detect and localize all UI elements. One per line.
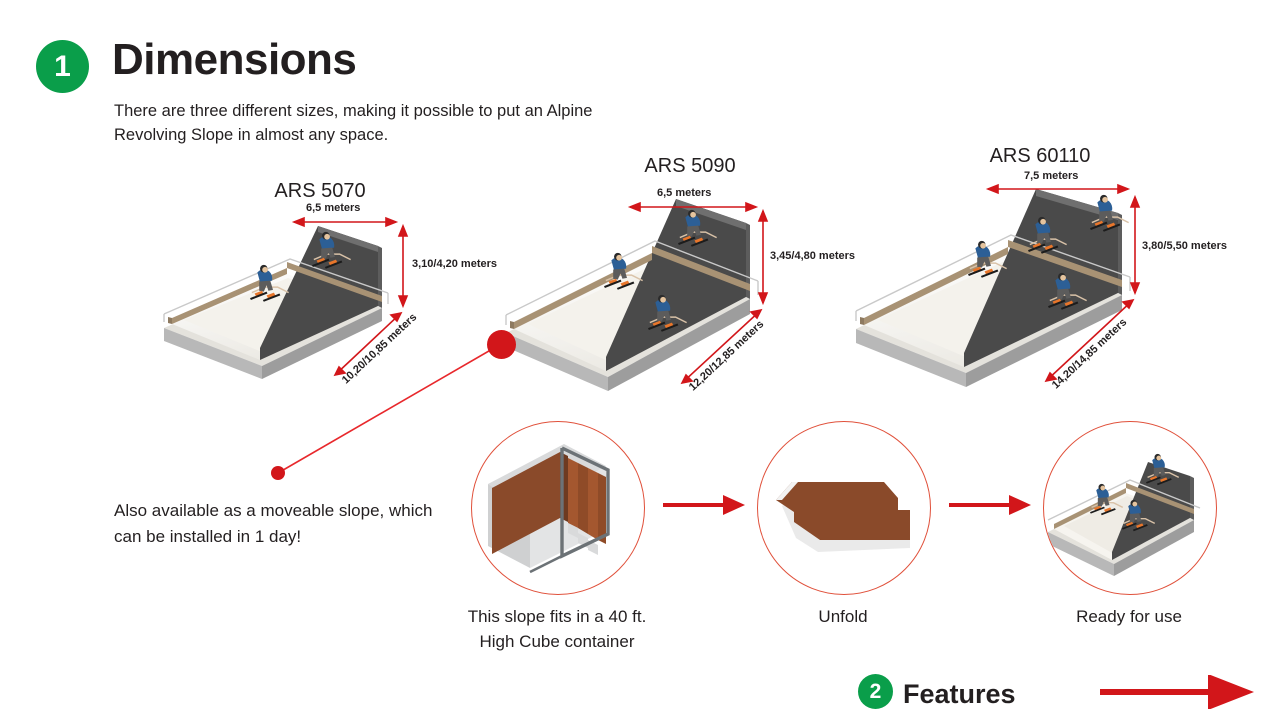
slide-canvas: 1 Dimensions There are three different s… [0,0,1280,720]
process-arrow-2 [947,492,1037,518]
folded-panel-icon [758,422,928,592]
step-badge-2[interactable]: 2 [858,674,893,709]
process-circle-unfold [757,421,931,595]
process-caption-container: This slope fits in a 40 ft. High Cube co… [427,605,687,654]
shipping-container-folded-icon [472,422,642,592]
process-circle-ready [1043,421,1217,595]
slope-ready-icon [1044,422,1214,592]
features-arrow-right-icon [1098,675,1258,709]
step-badge-2-number: 2 [870,681,882,702]
moveable-slope-text: Also available as a moveable slope, whic… [114,498,444,551]
process-circle-container [471,421,645,595]
process-caption-unfold: Unfold [743,605,943,630]
callout-dot-target [271,466,285,480]
features-label[interactable]: Features [903,679,1016,710]
process-arrow-1 [661,492,751,518]
callout-dot-source [487,330,516,359]
process-caption-ready: Ready for use [1029,605,1229,630]
